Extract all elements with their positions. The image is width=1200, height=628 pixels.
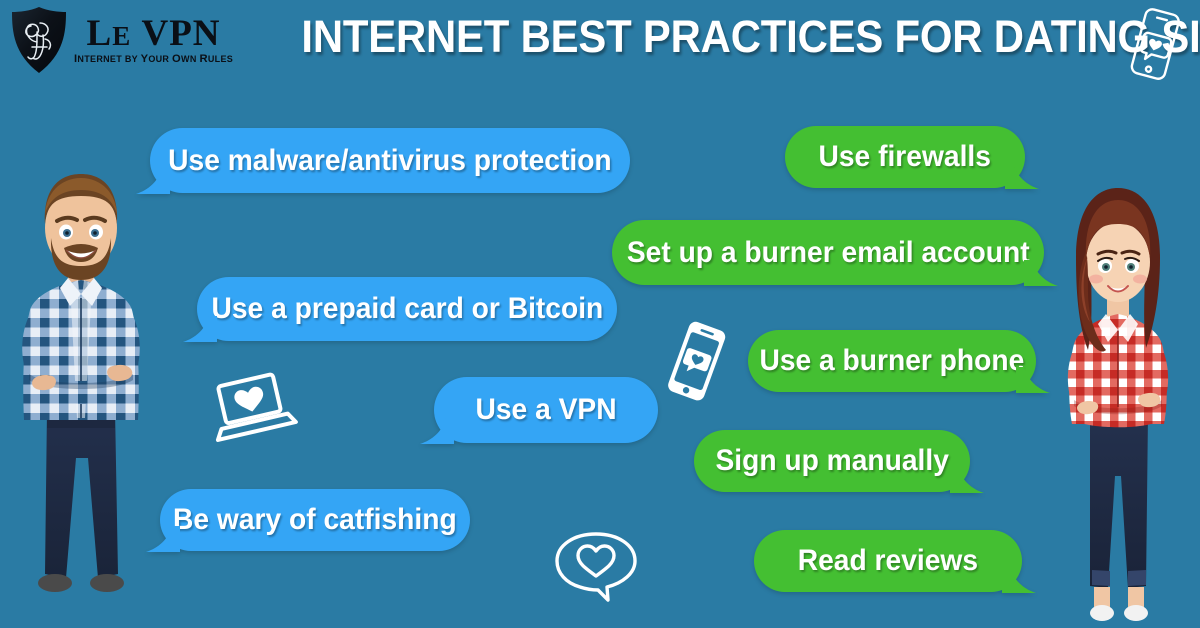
tip-bubble-label: Be wary of catfishing <box>173 505 457 535</box>
bubble-tail-right-icon <box>1016 367 1050 393</box>
woman-illustration <box>1042 166 1194 628</box>
bubble-tail-left-icon <box>420 418 454 444</box>
tip-bubble-label: Use a VPN <box>475 395 616 425</box>
brand-tagline: Internet by Your Own Rules <box>74 54 233 65</box>
page-title: INTERNET BEST PRACTICES FOR DATING SITES <box>301 11 1082 63</box>
tip-bubble-label: Read reviews <box>798 546 978 576</box>
bubble-tail-left-icon <box>146 526 180 552</box>
tip-bubble-vpn[interactable]: Use a VPN <box>434 377 658 443</box>
tip-bubble-label: Use malware/antivirus protection <box>168 146 612 176</box>
brand-name: Le VPN <box>87 15 221 52</box>
smartphone-chat-heart-icon <box>655 318 737 408</box>
tip-bubble-burner-email[interactable]: Set up a burner email account <box>612 220 1044 285</box>
bubble-tail-left-icon <box>183 316 217 342</box>
tip-bubble-label: Sign up manually <box>715 446 948 476</box>
man-illustration <box>2 128 160 628</box>
tip-bubble-label: Set up a burner email account <box>627 238 1030 268</box>
tip-bubble-read-reviews[interactable]: Read reviews <box>754 530 1022 592</box>
tip-bubble-burner-phone[interactable]: Use a burner phone <box>748 330 1036 392</box>
speech-bubble-heart-icon <box>550 528 642 604</box>
bubble-tail-right-icon <box>950 467 984 493</box>
tip-bubble-label: Use a burner phone <box>760 346 1025 376</box>
brand-logo-text: Le VPN Internet by Your Own Rules <box>74 15 233 65</box>
tip-bubble-catfishing[interactable]: Be wary of catfishing <box>160 489 470 551</box>
shield-logo-icon <box>10 6 68 74</box>
phone-heart-chat-icon <box>1126 5 1184 85</box>
laptop-heart-icon <box>200 372 300 448</box>
bubble-tail-right-icon <box>1024 260 1058 286</box>
tip-bubble-signup-manually[interactable]: Sign up manually <box>694 430 970 492</box>
bubble-tail-right-icon <box>1002 567 1036 593</box>
header-bar: Le VPN Internet by Your Own Rules INTERN… <box>0 0 1200 92</box>
tip-bubble-firewalls[interactable]: Use firewalls <box>785 126 1025 188</box>
tip-bubble-label: Use a prepaid card or Bitcoin <box>211 294 603 324</box>
tip-bubble-label: Use firewalls <box>819 142 991 172</box>
bubble-tail-right-icon <box>1005 163 1039 189</box>
infographic-canvas: Le VPN Internet by Your Own Rules INTERN… <box>0 0 1200 628</box>
brand-logo[interactable]: Le VPN Internet by Your Own Rules <box>10 6 233 74</box>
bubble-tail-left-icon <box>136 168 170 194</box>
tip-bubble-malware[interactable]: Use malware/antivirus protection <box>150 128 630 193</box>
tip-bubble-prepaid[interactable]: Use a prepaid card or Bitcoin <box>197 277 617 341</box>
